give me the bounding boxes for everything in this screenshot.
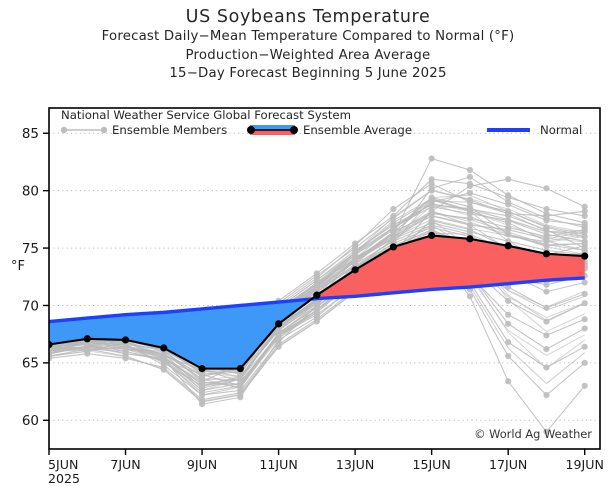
x-axis-tick-label: 11JUN [259, 457, 297, 472]
ensemble-member-point [467, 215, 473, 221]
y-axis-tick-label: 75 [22, 241, 39, 257]
legend-members-dot [101, 127, 107, 133]
ensemble-member-point [505, 220, 511, 226]
ensemble-member-point [390, 236, 396, 242]
y-axis-tick-label: 80 [22, 183, 39, 199]
x-axis-tick-label: 17JUN [489, 457, 527, 472]
ensemble-member-point [237, 392, 243, 398]
ensemble-member-point [505, 208, 511, 214]
ensemble-member-point [543, 318, 549, 324]
ensemble-average-point [122, 336, 129, 343]
x-axis-year-label: 2025 [48, 471, 80, 486]
ensemble-member-point [582, 325, 588, 331]
ensemble-average-point [160, 344, 167, 351]
ensemble-member-point [199, 399, 205, 405]
ensemble-member-point [467, 190, 473, 196]
ensemble-average-point [237, 365, 244, 372]
ensemble-member-point [314, 270, 320, 276]
ensemble-member-point [505, 176, 511, 182]
ensemble-member-point [429, 155, 435, 161]
ensemble-member-point [582, 360, 588, 366]
ensemble-member-point [314, 282, 320, 288]
ensemble-average-point [505, 242, 512, 249]
ensemble-member-point [467, 293, 473, 299]
ensemble-member-point [543, 346, 549, 352]
ensemble-member-point [390, 220, 396, 226]
ensemble-member-point [237, 376, 243, 382]
ensemble-member-point [543, 215, 549, 221]
ensemble-member-point [543, 332, 549, 338]
ensemble-member-point [543, 364, 549, 370]
ensemble-member-point [582, 224, 588, 230]
legend-members-dot [61, 127, 67, 133]
ensemble-member-point [582, 233, 588, 239]
ensemble-member-point [467, 167, 473, 173]
ensemble-member-point [161, 355, 167, 361]
legend-label-ensemble-average: Ensemble Average [303, 123, 412, 137]
ensemble-member-point [275, 332, 281, 338]
ensemble-member-point [84, 346, 90, 352]
y-axis-tick-label: 65 [22, 356, 39, 372]
ensemble-average-point [543, 250, 550, 257]
legend-average-dot [247, 126, 255, 134]
y-axis-tick-label: 70 [22, 298, 39, 314]
ensemble-member-point [122, 346, 128, 352]
ensemble-average-point [352, 266, 359, 273]
ensemble-member-point [314, 312, 320, 318]
ensemble-member-point [467, 181, 473, 187]
x-axis-tick-label: 7JUN [110, 457, 140, 472]
ensemble-member-point [582, 300, 588, 306]
x-axis-tick-label: 9JUN [187, 457, 217, 472]
y-axis-tick-label: 85 [22, 126, 39, 142]
ensemble-member-point [543, 206, 549, 212]
ensemble-average-point [390, 243, 397, 250]
y-axis-label: °F [11, 259, 25, 274]
temperature-chart: 606570758085 5JUN7JUN9JUN11JUN13JUN15JUN… [0, 0, 616, 486]
legend-average-dot [290, 126, 298, 134]
ensemble-average-point [84, 335, 91, 342]
ensemble-member-point [543, 392, 549, 398]
ensemble-average-point [198, 365, 205, 372]
ensemble-member-point [543, 305, 549, 311]
y-axis-tick-label: 60 [22, 413, 39, 429]
legend-label-normal: Normal [540, 123, 582, 137]
ensemble-member-point [505, 378, 511, 384]
ensemble-member-point [429, 185, 435, 191]
legend-label-ensemble-members: Ensemble Members [112, 123, 227, 137]
ensemble-member-point [429, 176, 435, 182]
ensemble-member-point [237, 385, 243, 391]
ensemble-member-point [352, 256, 358, 262]
ensemble-member-point [505, 194, 511, 200]
x-axis-tick-label: 19JUN [565, 457, 603, 472]
ensemble-average-point [466, 235, 473, 242]
ensemble-member-point [543, 185, 549, 191]
watermark: © World Ag Weather [474, 427, 592, 441]
x-axis-tick-label: 13JUN [336, 457, 374, 472]
x-axis-tick-label: 5JUN [48, 457, 78, 472]
ensemble-member-point [467, 174, 473, 180]
x-axis: 5JUN7JUN9JUN11JUN13JUN15JUN17JUN19JUN202… [48, 449, 604, 486]
ensemble-member-point [429, 197, 435, 203]
ensemble-member-point [582, 279, 588, 285]
ensemble-member-point [505, 339, 511, 345]
ensemble-member-point [505, 298, 511, 304]
ensemble-member-point [543, 238, 549, 244]
ensemble-member-point [390, 213, 396, 219]
ensemble-member-point [582, 383, 588, 389]
ensemble-member-point [314, 300, 320, 306]
ensemble-member-point [390, 229, 396, 235]
ensemble-member-point [161, 367, 167, 373]
ensemble-member-point [582, 344, 588, 350]
ensemble-member-point [390, 206, 396, 212]
ensemble-member-point [582, 291, 588, 297]
legend-title: National Weather Service Global Forecast… [61, 108, 351, 122]
ensemble-member-point [582, 213, 588, 219]
ensemble-average-point [275, 320, 282, 327]
ensemble-member-point [275, 344, 281, 350]
ensemble-member-point [429, 211, 435, 217]
ensemble-member-point [467, 208, 473, 214]
ensemble-average-point [313, 292, 320, 299]
ensemble-average-point [428, 232, 435, 239]
ensemble-member-point [505, 321, 511, 327]
ensemble-member-point [199, 380, 205, 386]
ensemble-member-point [505, 353, 511, 359]
ensemble-member-point [582, 316, 588, 322]
ensemble-member-point [352, 250, 358, 256]
ensemble-member-point [582, 204, 588, 210]
ensemble-member-point [314, 318, 320, 324]
ensemble-average-point [581, 253, 588, 260]
ensemble-member-point [352, 240, 358, 246]
x-axis-tick-label: 15JUN [412, 457, 450, 472]
ensemble-member-point [199, 390, 205, 396]
ensemble-member-point [122, 353, 128, 359]
ensemble-member-point [543, 224, 549, 230]
y-axis: 606570758085 [22, 126, 49, 429]
ensemble-member-point [505, 312, 511, 318]
ensemble-member-point [505, 231, 511, 237]
ensemble-member-point [543, 289, 549, 295]
chart-page: US Soybeans Temperature Forecast Daily−M… [0, 0, 616, 486]
